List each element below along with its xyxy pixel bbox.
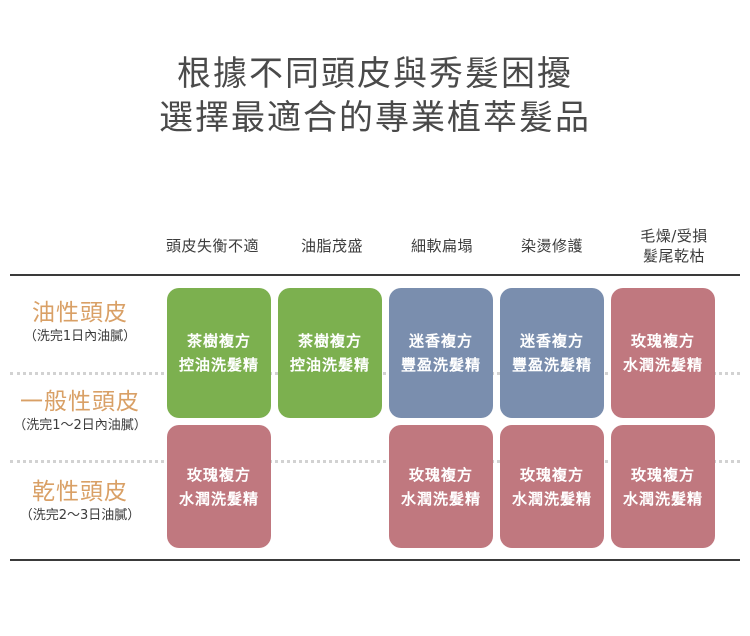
product-name-line-1: 茶樹複方 [290, 329, 370, 353]
product-name-line-2: 水潤洗髮精 [512, 487, 592, 511]
product-name-line-1: 迷香複方 [512, 329, 592, 353]
product-name-line-2: 水潤洗髮精 [401, 487, 481, 511]
row-label-title: 乾性頭皮 [0, 478, 160, 506]
product-name-line-1: 玫瑰複方 [179, 463, 259, 487]
column-header-line-1: 頭皮失衡不適 [166, 237, 259, 255]
product-name-line-2: 水潤洗髮精 [179, 487, 259, 511]
product-name-line-2: 控油洗髮精 [179, 353, 259, 377]
column-header-line-1: 細軟扁塌 [411, 237, 473, 255]
row-label-subtitle: （洗完1日內油膩） [0, 327, 160, 346]
product-name-line-2: 水潤洗髮精 [623, 487, 703, 511]
cell-tea-tree-oily-col-scalp-imbalance[interactable]: 茶樹複方 控油洗髮精 [167, 288, 271, 418]
product-name-line-1: 茶樹複方 [179, 329, 259, 353]
column-header-line-1: 油脂茂盛 [301, 237, 363, 255]
product-name-line-1: 玫瑰複方 [401, 463, 481, 487]
column-header-color-perm-care: 染燙修護 [497, 236, 607, 256]
product-name-line-1: 玫瑰複方 [623, 463, 703, 487]
cell-rosemary-oily-col-fine-flat-hair[interactable]: 迷香複方 豐盈洗髮精 [389, 288, 493, 418]
column-header-line-1: 毛燥/受損 [640, 227, 708, 245]
product-name-line-2: 豐盈洗髮精 [512, 353, 592, 377]
column-header-fine-flat-hair: 細軟扁塌 [387, 236, 497, 256]
product-name-line-1: 玫瑰複方 [512, 463, 592, 487]
product-name-line-2: 水潤洗髮精 [623, 353, 703, 377]
column-header-dry-damaged-ends: 毛燥/受損 髮尾乾枯 [609, 226, 739, 266]
column-header-line-1: 染燙修護 [521, 237, 583, 255]
row-label-subtitle: （洗完1～2日內油膩） [0, 416, 160, 435]
cell-rose-oily-col-dry-damaged-ends[interactable]: 玫瑰複方 水潤洗髮精 [611, 288, 715, 418]
cell-rosemary-oily-col-color-perm-care[interactable]: 迷香複方 豐盈洗髮精 [500, 288, 604, 418]
product-matrix: 頭皮失衡不適 油脂茂盛 細軟扁塌 染燙修護 毛燥/受損 髮尾乾枯 油性頭皮 （洗… [0, 0, 750, 636]
row-label-dry-scalp: 乾性頭皮 （洗完2～3日油膩） [0, 478, 160, 525]
cell-rose-dry-col-color-perm-care[interactable]: 玫瑰複方 水潤洗髮精 [500, 425, 604, 548]
product-name-line-2: 控油洗髮精 [290, 353, 370, 377]
row-label-title: 油性頭皮 [0, 299, 160, 327]
row-label-oily-scalp: 油性頭皮 （洗完1日內油膩） [0, 299, 160, 346]
row-label-normal-scalp: 一般性頭皮 （洗完1～2日內油膩） [0, 388, 160, 435]
column-header-scalp-imbalance: 頭皮失衡不適 [150, 236, 275, 256]
cell-rose-dry-col-scalp-imbalance[interactable]: 玫瑰複方 水潤洗髮精 [167, 425, 271, 548]
matrix-bottom-rule [10, 559, 740, 561]
column-header-excess-oil: 油脂茂盛 [277, 236, 387, 256]
row-label-subtitle: （洗完2～3日油膩） [0, 506, 160, 525]
product-name-line-1: 迷香複方 [401, 329, 481, 353]
column-header-line-2: 髮尾乾枯 [609, 246, 739, 266]
matrix-top-rule [10, 274, 740, 276]
cell-rose-dry-col-dry-damaged-ends[interactable]: 玫瑰複方 水潤洗髮精 [611, 425, 715, 548]
cell-tea-tree-oily-col-excess-oil[interactable]: 茶樹複方 控油洗髮精 [278, 288, 382, 418]
cell-rose-dry-col-fine-flat-hair[interactable]: 玫瑰複方 水潤洗髮精 [389, 425, 493, 548]
product-name-line-1: 玫瑰複方 [623, 329, 703, 353]
product-name-line-2: 豐盈洗髮精 [401, 353, 481, 377]
row-label-title: 一般性頭皮 [0, 388, 160, 416]
